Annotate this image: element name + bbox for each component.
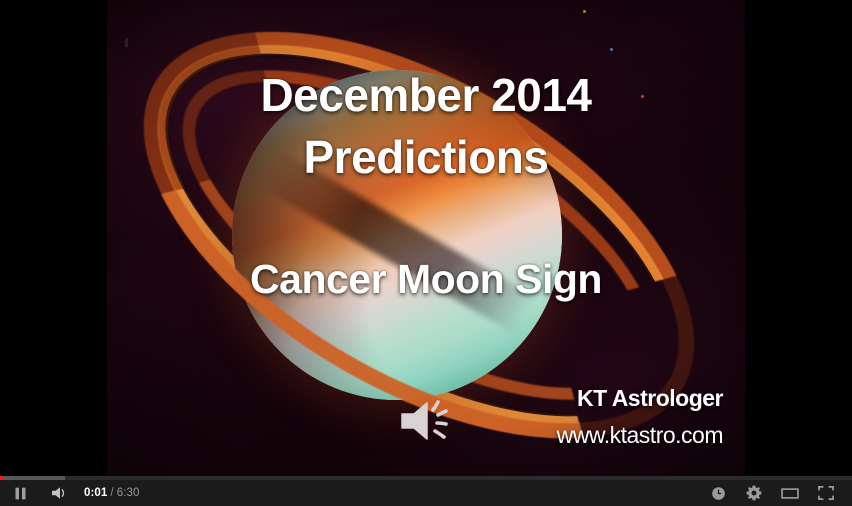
video-title-line-1: December 2014 xyxy=(107,68,745,122)
fullscreen-button[interactable] xyxy=(808,480,844,506)
current-time: 0:01 xyxy=(84,487,107,499)
theater-mode-button[interactable] xyxy=(772,480,808,506)
time-separator: / xyxy=(110,487,113,499)
fullscreen-icon xyxy=(818,486,834,500)
pause-icon xyxy=(13,486,28,501)
time-display: 0:01 / 6:30 xyxy=(84,487,140,499)
volume-icon xyxy=(50,485,70,501)
gear-icon xyxy=(746,485,762,501)
video-credit-url: www.ktastro.com xyxy=(557,422,723,449)
video-title-line-2: Predictions xyxy=(107,130,745,184)
settings-button[interactable] xyxy=(736,480,772,506)
video-player[interactable]: December 2014 Predictions Cancer Moon Si… xyxy=(0,0,852,506)
theater-mode-icon xyxy=(781,487,799,500)
watch-later-clock-icon xyxy=(711,486,726,501)
video-subtitle: Cancer Moon Sign xyxy=(107,256,745,303)
player-control-bar[interactable]: 0:01 / 6:30 xyxy=(0,480,852,506)
total-duration: 6:30 xyxy=(117,487,140,499)
right-control-group xyxy=(700,480,852,506)
watch-later-button[interactable] xyxy=(700,480,736,506)
video-credit-name: KT Astrologer xyxy=(577,385,723,412)
volume-button[interactable] xyxy=(40,480,80,506)
speaker-sound-icon xyxy=(397,398,449,444)
video-viewport[interactable]: December 2014 Predictions Cancer Moon Si… xyxy=(107,0,745,480)
pause-button[interactable] xyxy=(0,480,40,506)
